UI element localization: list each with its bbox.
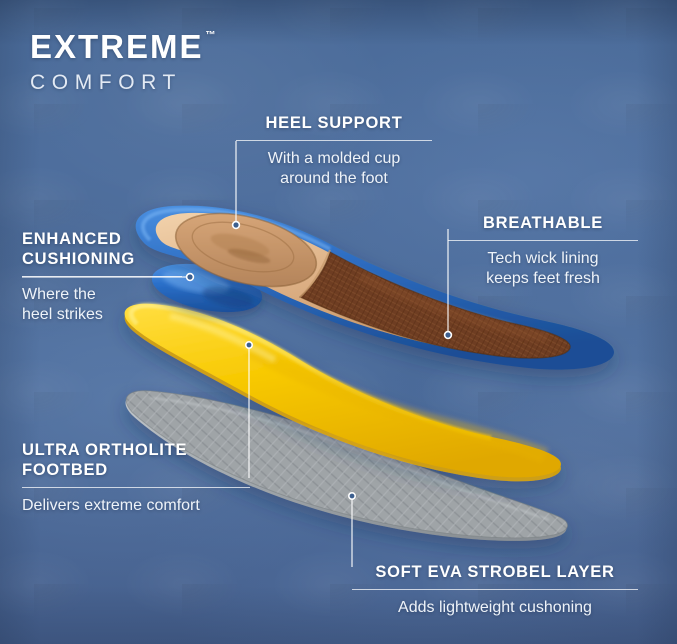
callout-title-breathable: BREATHABLE [448, 213, 638, 233]
callout-description-enhanced-cushioning: Where the heel strikes [22, 285, 182, 324]
callout-desc-line: keeps feet fresh [448, 269, 638, 289]
callout-title-enhanced-cushioning: ENHANCED CUSHIONING [22, 229, 182, 269]
callout-desc-line: With a molded cup [236, 149, 432, 169]
callout-rule-breathable [448, 240, 638, 241]
callout-description-breathable: Tech wick lining keeps feet fresh [448, 249, 638, 288]
brand-name: EXTREME™ [30, 30, 204, 63]
callout-desc-line: around the foot [236, 169, 432, 189]
brand-logo: EXTREME™ COMFORT [30, 30, 204, 93]
callout-desc-line: heel strikes [22, 305, 182, 325]
brand-name-text: EXTREME [30, 28, 204, 65]
callout-rule-soft-eva [352, 589, 638, 590]
callout-enhanced-cushioning: ENHANCED CUSHIONING Where the heel strik… [22, 229, 182, 324]
callout-rule-enhanced-cushioning [22, 276, 182, 277]
brand-tagline: COMFORT [30, 72, 204, 93]
callout-title-heel-support: HEEL SUPPORT [236, 113, 432, 133]
callout-description-soft-eva: Adds lightweight cushoning [352, 598, 638, 618]
callout-rule-ultra-ortholite [22, 487, 250, 488]
callout-soft-eva-strobel-layer: SOFT EVA STROBEL LAYER Adds lightweight … [352, 562, 638, 618]
callout-ultra-ortholite-footbed: ULTRA ORTHOLITE FOOTBED Delivers extreme… [22, 440, 250, 516]
callout-description-heel-support: With a molded cup around the foot [236, 149, 432, 188]
callout-title-line: FOOTBED [22, 460, 250, 480]
callout-title-line: ULTRA ORTHOLITE [22, 440, 250, 460]
callout-title-line: ENHANCED [22, 229, 182, 249]
trademark-symbol: ™ [206, 31, 216, 41]
callout-desc-line: Delivers extreme comfort [22, 496, 250, 516]
callout-title-ultra-ortholite: ULTRA ORTHOLITE FOOTBED [22, 440, 250, 480]
callout-desc-line: Tech wick lining [448, 249, 638, 269]
callout-desc-line: Adds lightweight cushoning [352, 598, 638, 618]
callout-breathable: BREATHABLE Tech wick lining keeps feet f… [448, 213, 638, 288]
callout-desc-line: Where the [22, 285, 182, 305]
callout-description-ultra-ortholite: Delivers extreme comfort [22, 496, 250, 516]
callout-rule-heel-support [236, 140, 432, 141]
callout-title-soft-eva: SOFT EVA STROBEL LAYER [352, 562, 638, 582]
callout-title-line: CUSHIONING [22, 249, 182, 269]
callout-heel-support: HEEL SUPPORT With a molded cup around th… [236, 113, 432, 188]
infographic-canvas: EXTREME™ COMFORT HEEL SUPPORT With a mol… [0, 0, 677, 644]
